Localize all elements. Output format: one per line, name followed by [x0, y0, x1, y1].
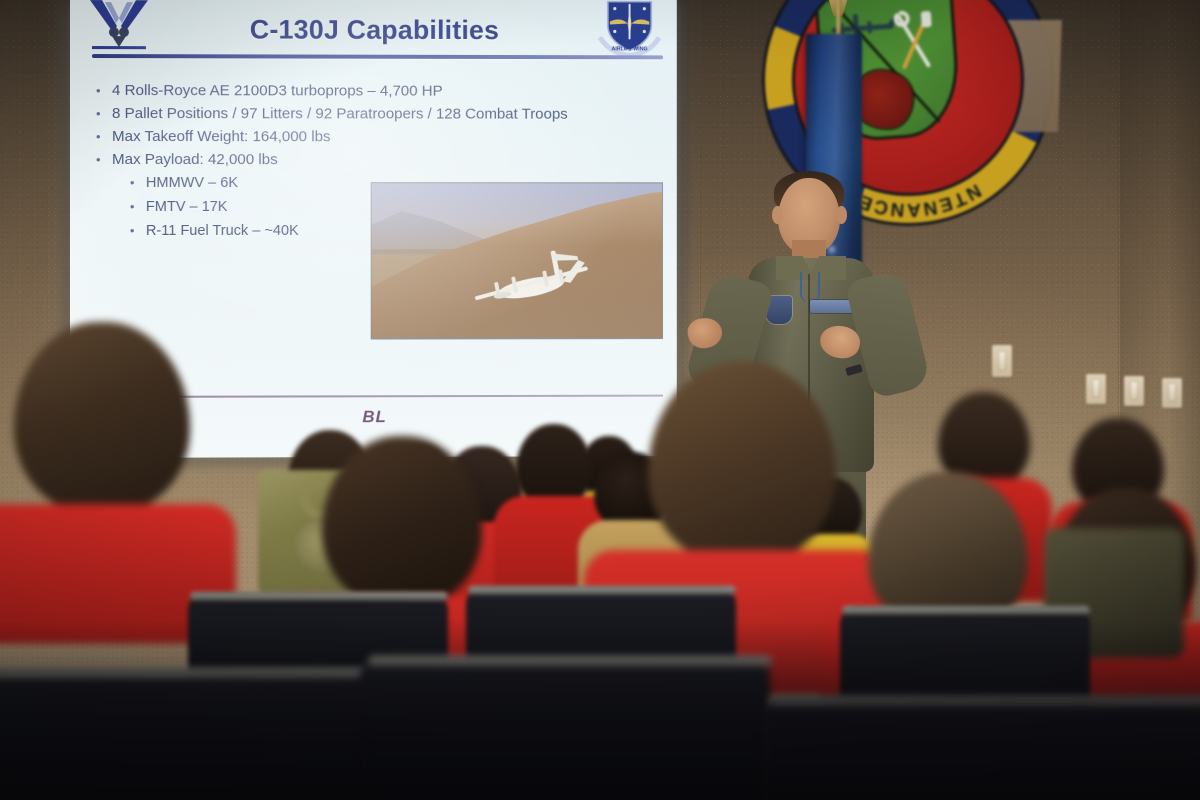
student-hair — [516, 424, 592, 506]
auditorium-seat[interactable] — [0, 672, 370, 800]
auditorium-seat-rail — [190, 592, 448, 601]
auditorium-seat-rail — [0, 668, 376, 679]
student-front-left — [0, 322, 216, 622]
student-hair — [648, 362, 836, 562]
briefing-room-scene: READY TO FLY NTENANCE SQ ★ ★★ ★★ — [0, 0, 1200, 800]
auditorium-seat-rail — [368, 656, 772, 667]
auditorium-seat[interactable] — [762, 700, 1200, 800]
auditorium-seat-rail — [468, 586, 736, 595]
auditorium-seat-rail — [770, 696, 1200, 707]
student-hair — [14, 322, 190, 512]
auditorium-seat-rail — [842, 606, 1090, 615]
student-hair — [322, 436, 482, 606]
auditorium-seat[interactable] — [360, 660, 770, 800]
